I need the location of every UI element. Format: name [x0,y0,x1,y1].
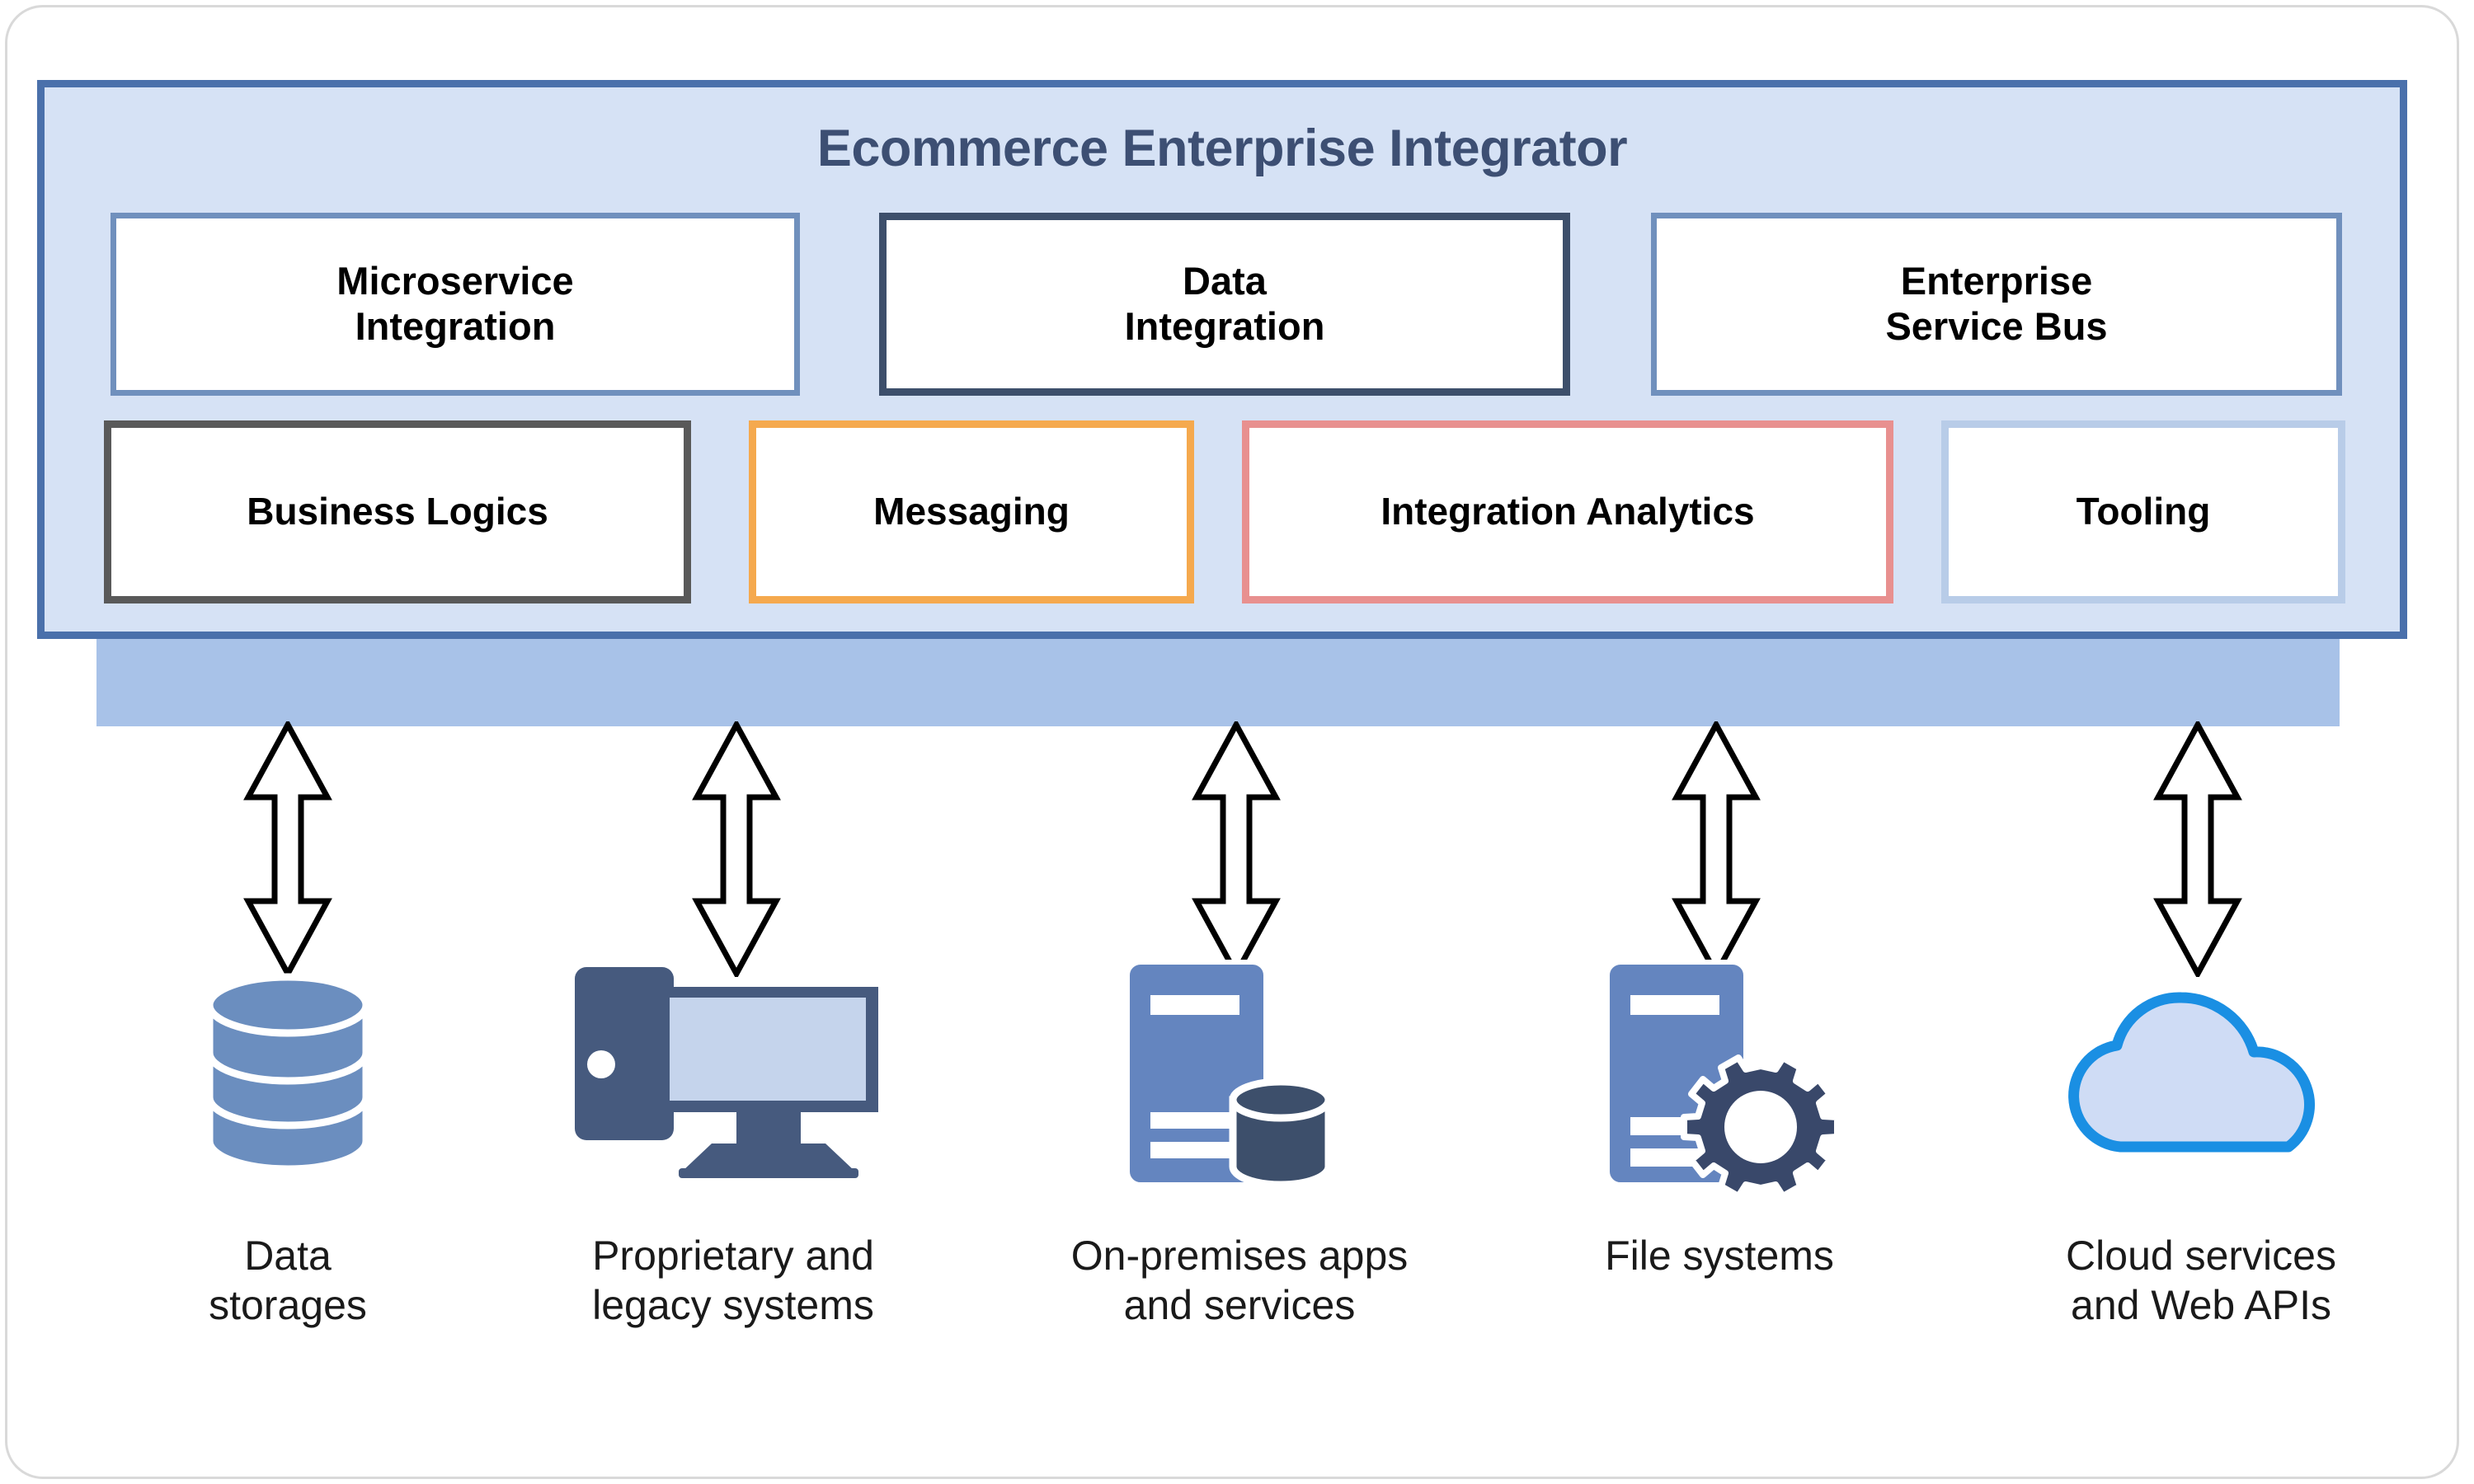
database-stack-icon [73,947,502,1195]
system-node-label: Proprietary and legacy systems [519,1231,948,1330]
diagram-canvas: Ecommerce Enterprise Integrator Microser… [0,0,2474,1484]
system-node-file-systems[interactable]: File systems [1505,947,1934,1280]
capability-box-tooling[interactable]: Tooling [1941,420,2345,603]
system-node-label: File systems [1505,1231,1934,1280]
system-node-label: Data storages [73,1231,502,1330]
system-node-legacy-systems[interactable]: Proprietary and legacy systems [519,947,948,1330]
cloud-icon [1987,947,2415,1195]
capability-box-data-integration[interactable]: Data Integration [879,213,1570,396]
page-title: Ecommerce Enterprise Integrator [45,119,2400,178]
capability-box-enterprise-service-bus[interactable]: Enterprise Service Bus [1651,213,2342,396]
server-gear-icon [1505,947,1934,1195]
capability-label: Integration Analytics [1380,490,1754,533]
system-node-onprem-apps[interactable]: On-premises apps and services [1025,947,1454,1330]
capability-label: Business Logics [247,490,548,533]
capability-box-integration-analytics[interactable]: Integration Analytics [1242,420,1893,603]
double-headed-vertical-arrow-icon [1670,721,1762,977]
capability-label: Enterprise Service Bus [1885,259,2107,349]
capability-box-business-logics[interactable]: Business Logics [104,420,691,603]
system-node-data-storages[interactable]: Data storages [73,947,502,1330]
capability-label: Microservice Integration [336,259,573,349]
capability-box-messaging[interactable]: Messaging [749,420,1194,603]
double-headed-vertical-arrow-icon [690,721,783,977]
desktop-computer-icon [519,947,948,1195]
system-node-label: Cloud services and Web APIs [1987,1231,2415,1330]
double-headed-vertical-arrow-icon [2152,721,2244,977]
capability-label: Tooling [2077,490,2211,533]
double-headed-vertical-arrow-icon [1190,721,1282,977]
system-node-label: On-premises apps and services [1025,1231,1454,1330]
diagram-card: Ecommerce Enterprise Integrator Microser… [5,5,2459,1479]
integration-platform-panel: Ecommerce Enterprise Integrator Microser… [37,80,2407,639]
server-database-icon [1025,947,1454,1195]
double-headed-vertical-arrow-icon [242,721,334,977]
capability-box-microservice-integration[interactable]: Microservice Integration [111,213,800,396]
integration-bus-bar [96,639,2340,726]
system-node-cloud-services[interactable]: Cloud services and Web APIs [1987,947,2415,1330]
capability-label: Messaging [873,490,1070,533]
capability-label: Data Integration [1125,259,1325,349]
